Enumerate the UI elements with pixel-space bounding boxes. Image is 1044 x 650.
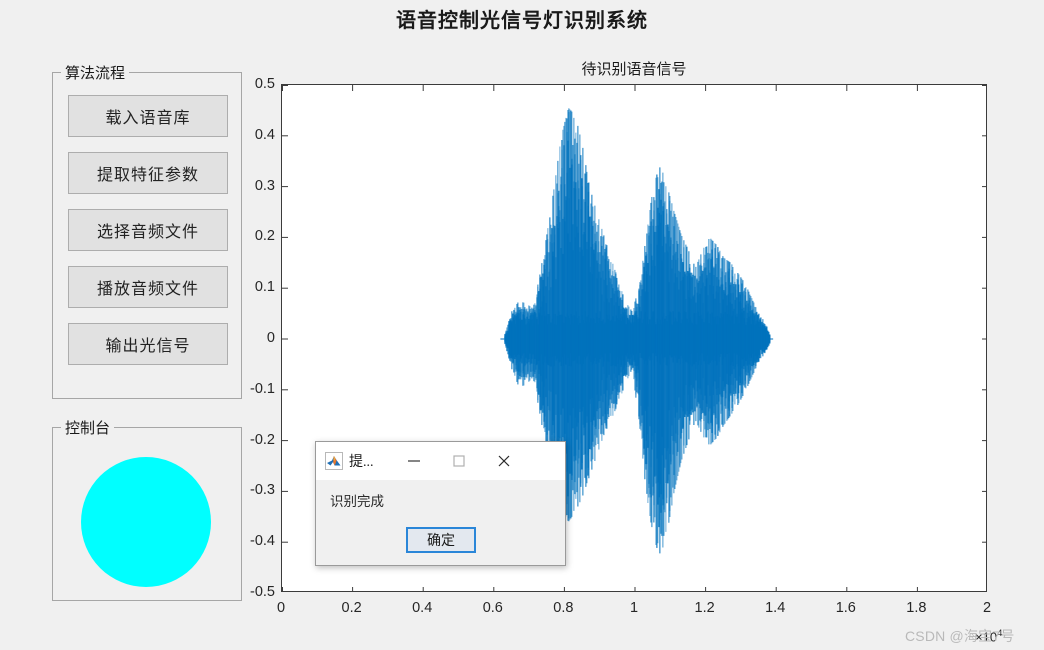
x-tick-label: 1 bbox=[630, 600, 638, 616]
y-tick-label: 0.2 bbox=[255, 228, 275, 244]
y-axis-tick-labels: 0.50.40.30.20.10-0.1-0.2-0.3-0.4-0.5 bbox=[231, 84, 275, 592]
dialog-ok-button[interactable]: 确定 bbox=[406, 527, 476, 553]
panel-console: 控制台 bbox=[52, 427, 242, 601]
y-tick-label: 0 bbox=[267, 330, 275, 346]
message-dialog: 提... 识别完成 确定 bbox=[315, 441, 566, 566]
y-tick-label: 0.3 bbox=[255, 178, 275, 194]
watermark: CSDN @海宝7号 bbox=[905, 626, 1015, 646]
x-tick-label: 0.8 bbox=[553, 600, 573, 616]
panel-algorithm-title: 算法流程 bbox=[61, 62, 129, 83]
maximize-icon[interactable] bbox=[437, 442, 482, 480]
x-tick-label: 1.2 bbox=[695, 600, 715, 616]
maximize-glyph bbox=[451, 453, 467, 469]
y-tick-label: 0.1 bbox=[255, 279, 275, 295]
minimize-icon[interactable] bbox=[392, 442, 437, 480]
minimize-glyph bbox=[406, 453, 422, 469]
x-tick-label: 0.6 bbox=[483, 600, 503, 616]
matlab-icon bbox=[325, 452, 343, 470]
y-tick-label: 0.5 bbox=[255, 76, 275, 92]
y-tick-label: 0.4 bbox=[255, 127, 275, 143]
close-icon[interactable] bbox=[482, 442, 527, 480]
close-glyph bbox=[496, 453, 512, 469]
y-tick-label: -0.3 bbox=[250, 482, 275, 498]
button-play-audio-file[interactable]: 播放音频文件 bbox=[68, 266, 228, 308]
dialog-titlebar[interactable]: 提... bbox=[316, 442, 565, 480]
x-tick-label: 1.4 bbox=[765, 600, 785, 616]
y-tick-label: -0.2 bbox=[250, 432, 275, 448]
indicator-light bbox=[81, 457, 211, 587]
button-load-speech-library[interactable]: 载入语音库 bbox=[68, 95, 228, 137]
matlab-icon-glyph bbox=[326, 453, 342, 469]
button-extract-features[interactable]: 提取特征参数 bbox=[68, 152, 228, 194]
button-output-light-signal[interactable]: 输出光信号 bbox=[68, 323, 228, 365]
page-title: 语音控制光信号灯识别系统 bbox=[0, 4, 1044, 33]
x-tick-label: 0.4 bbox=[412, 600, 432, 616]
y-tick-label: -0.4 bbox=[250, 533, 275, 549]
x-axis-tick-labels: 00.20.40.60.811.21.41.61.82 bbox=[281, 600, 987, 622]
y-tick-label: -0.1 bbox=[250, 381, 275, 397]
x-tick-label: 0.2 bbox=[342, 600, 362, 616]
x-tick-label: 2 bbox=[983, 600, 991, 616]
dialog-message: 识别完成 bbox=[330, 490, 384, 510]
panel-console-title: 控制台 bbox=[61, 417, 114, 438]
x-tick-label: 1.6 bbox=[836, 600, 856, 616]
dialog-title: 提... bbox=[349, 451, 374, 471]
panel-algorithm: 算法流程 载入语音库 提取特征参数 选择音频文件 播放音频文件 输出光信号 bbox=[52, 72, 242, 399]
x-tick-label: 0 bbox=[277, 600, 285, 616]
x-tick-label: 1.8 bbox=[906, 600, 926, 616]
plot-title: 待识别语音信号 bbox=[281, 58, 987, 79]
button-select-audio-file[interactable]: 选择音频文件 bbox=[68, 209, 228, 251]
y-tick-label: -0.5 bbox=[250, 584, 275, 600]
